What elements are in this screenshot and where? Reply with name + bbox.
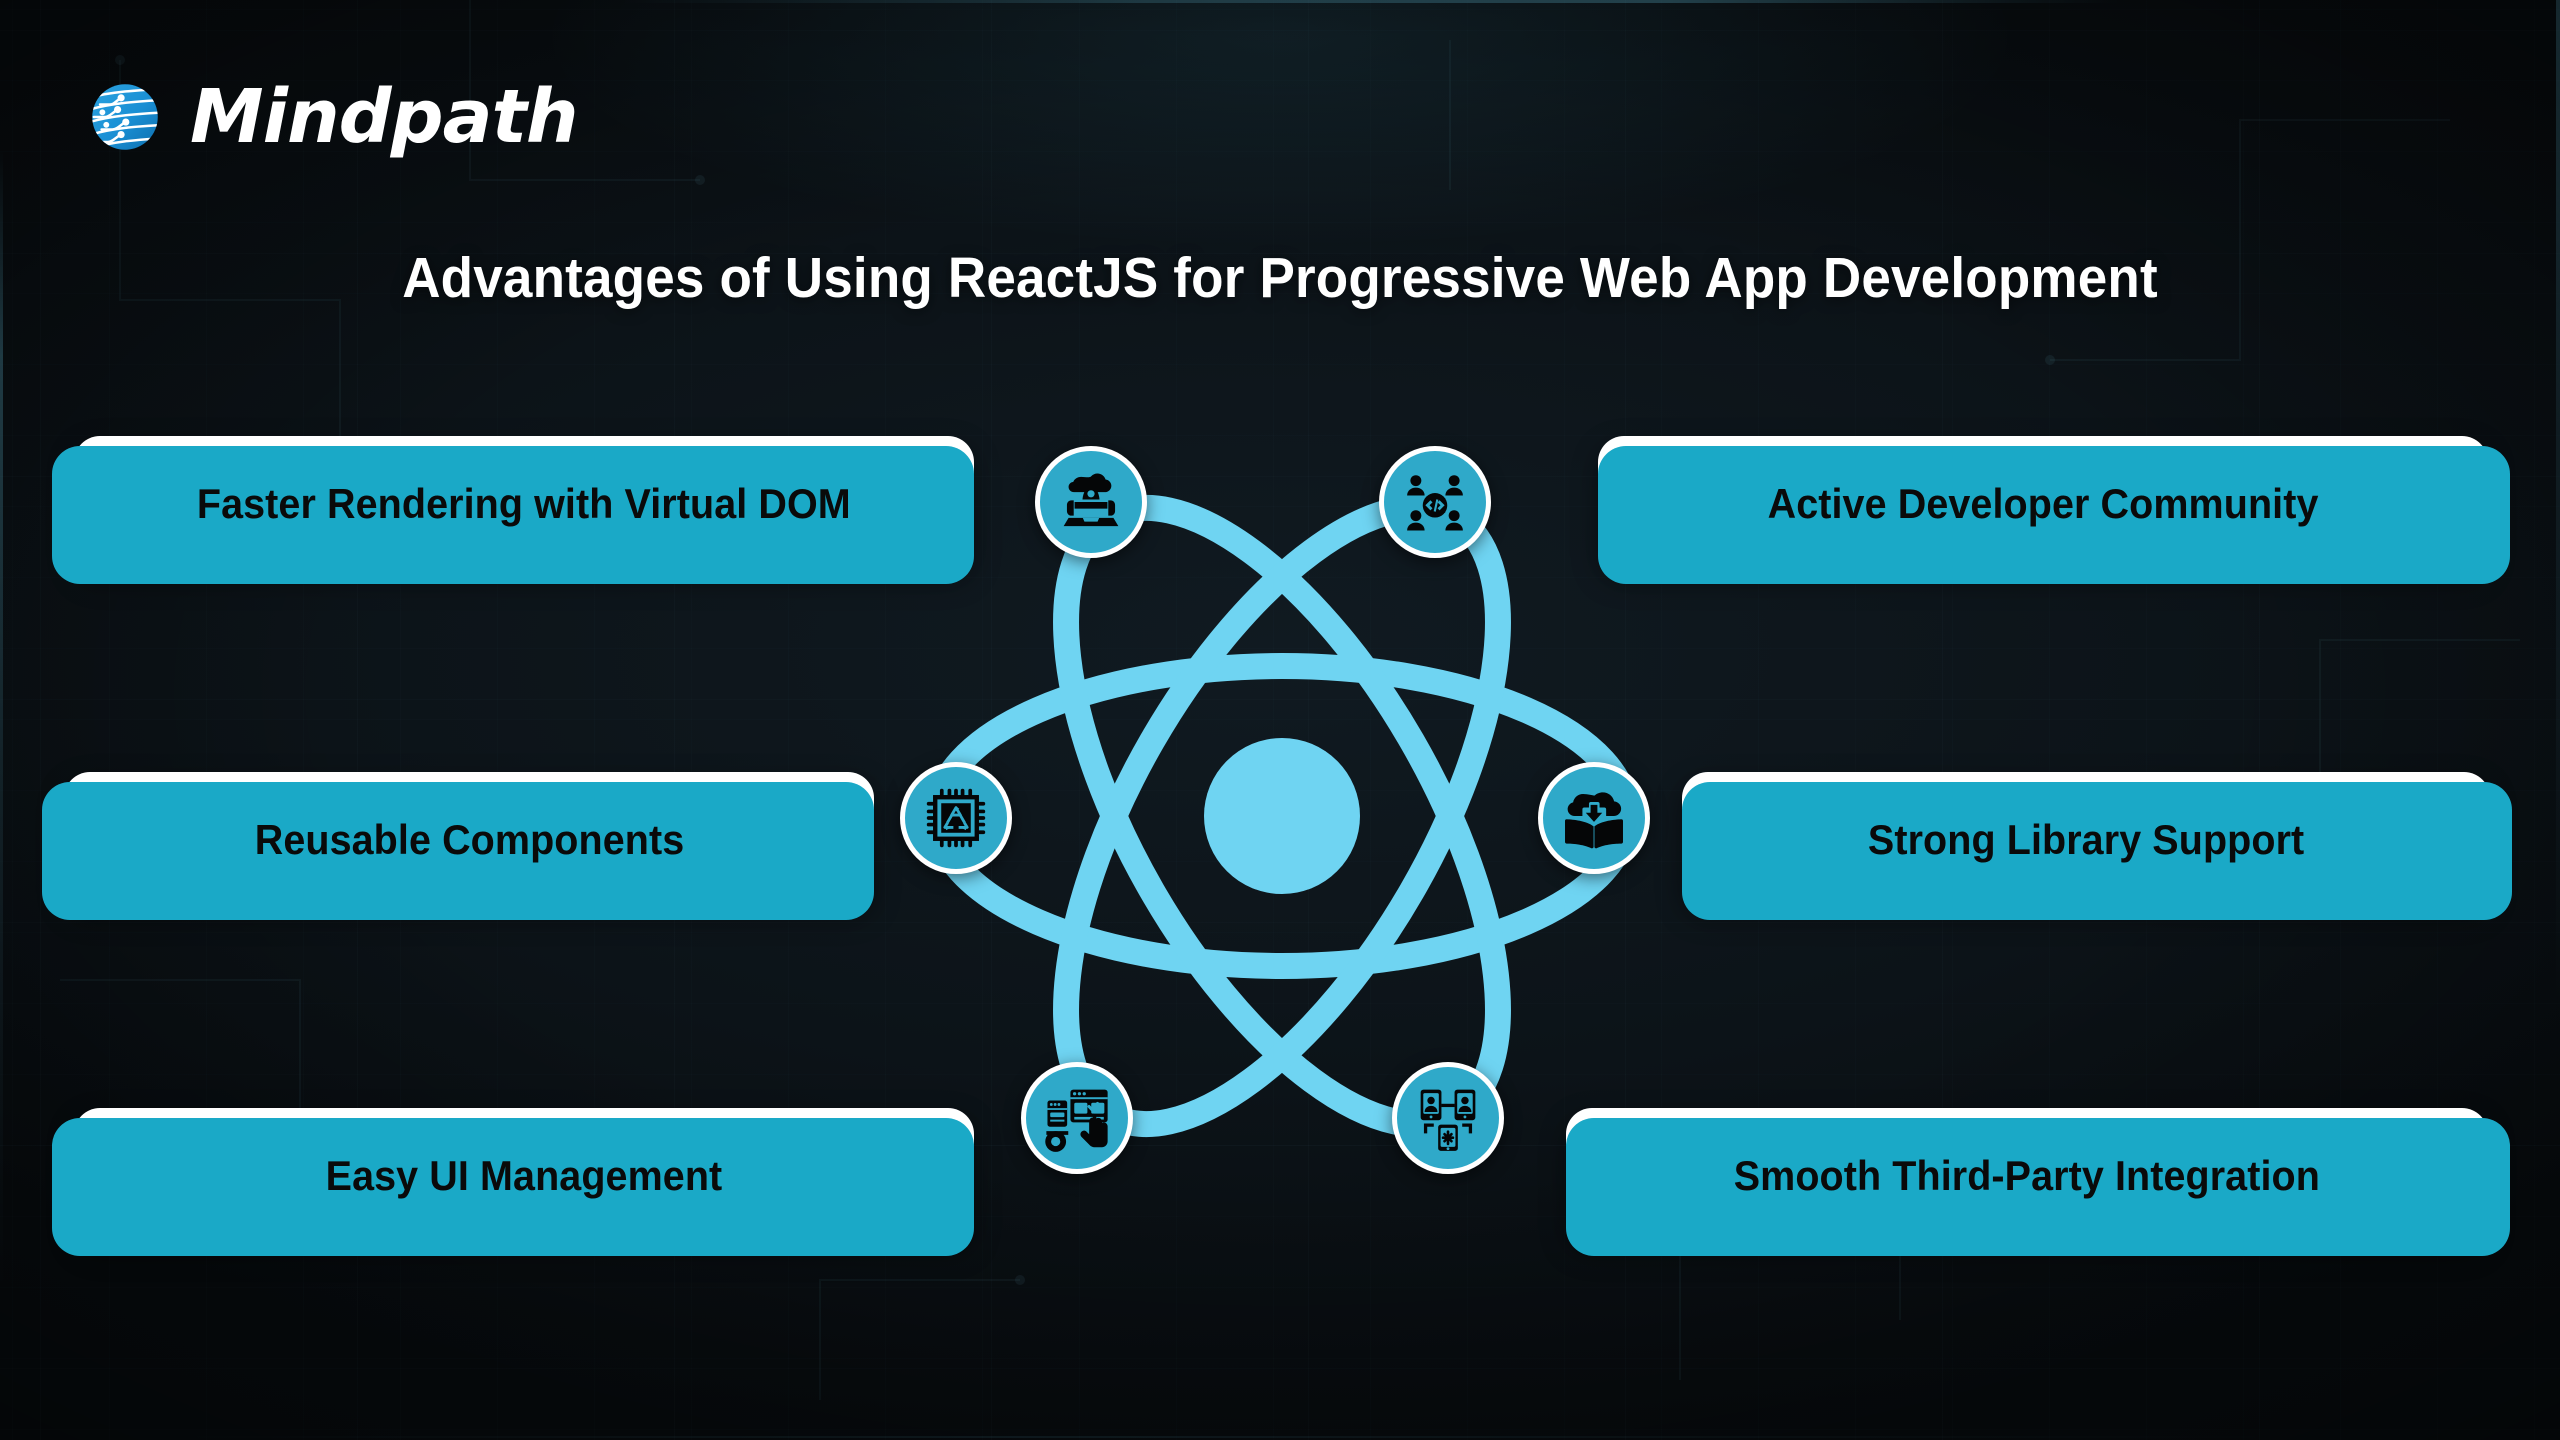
page-title: Advantages of Using ReactJS for Progress… [90, 245, 2471, 311]
advantage-label: Strong Library Support [1843, 816, 2328, 864]
advantage-pill-easy-ui-management[interactable]: Easy UI Management [74, 1108, 974, 1244]
advantage-pill-faster-rendering-virtual-dom[interactable]: Faster Rendering with Virtual DOM [74, 436, 974, 572]
advantage-label: Faster Rendering with Virtual DOM [173, 480, 876, 528]
advantage-label: Easy UI Management [301, 1152, 747, 1200]
globe-circuit-icon [86, 78, 164, 156]
rocket-laptop-icon [1056, 467, 1126, 537]
advantage-pill-strong-library-support[interactable]: Strong Library Support [1682, 772, 2490, 908]
advantage-pill-reusable-components[interactable]: Reusable Components [64, 772, 874, 908]
advantage-pill-active-developer-community[interactable]: Active Developer Community [1598, 436, 2488, 572]
advantage-label: Active Developer Community [1743, 480, 2343, 528]
advantage-label: Smooth Third-Party Integration [1709, 1152, 2344, 1200]
community-code-icon [1400, 467, 1470, 537]
node-active-developer-community[interactable] [1379, 446, 1491, 558]
node-faster-rendering-virtual-dom[interactable] [1035, 446, 1147, 558]
node-reusable-components[interactable] [900, 762, 1012, 874]
book-cloud-download-icon [1559, 783, 1629, 853]
infographic-canvas: Mindpath Advantages of Using ReactJS for… [0, 0, 2560, 1440]
brand-name: Mindpath [190, 80, 578, 154]
connected-devices-icon [1413, 1083, 1483, 1153]
advantage-pill-smooth-third-party-integration[interactable]: Smooth Third-Party Integration [1566, 1108, 2488, 1244]
chip-recycle-icon [921, 783, 991, 853]
brand-logo[interactable]: Mindpath [86, 78, 578, 156]
node-easy-ui-management[interactable] [1021, 1062, 1133, 1174]
node-smooth-third-party-integration[interactable] [1392, 1062, 1504, 1174]
ui-hand-gear-icon [1042, 1083, 1112, 1153]
node-strong-library-support[interactable] [1538, 762, 1650, 874]
advantage-label: Reusable Components [230, 816, 708, 864]
